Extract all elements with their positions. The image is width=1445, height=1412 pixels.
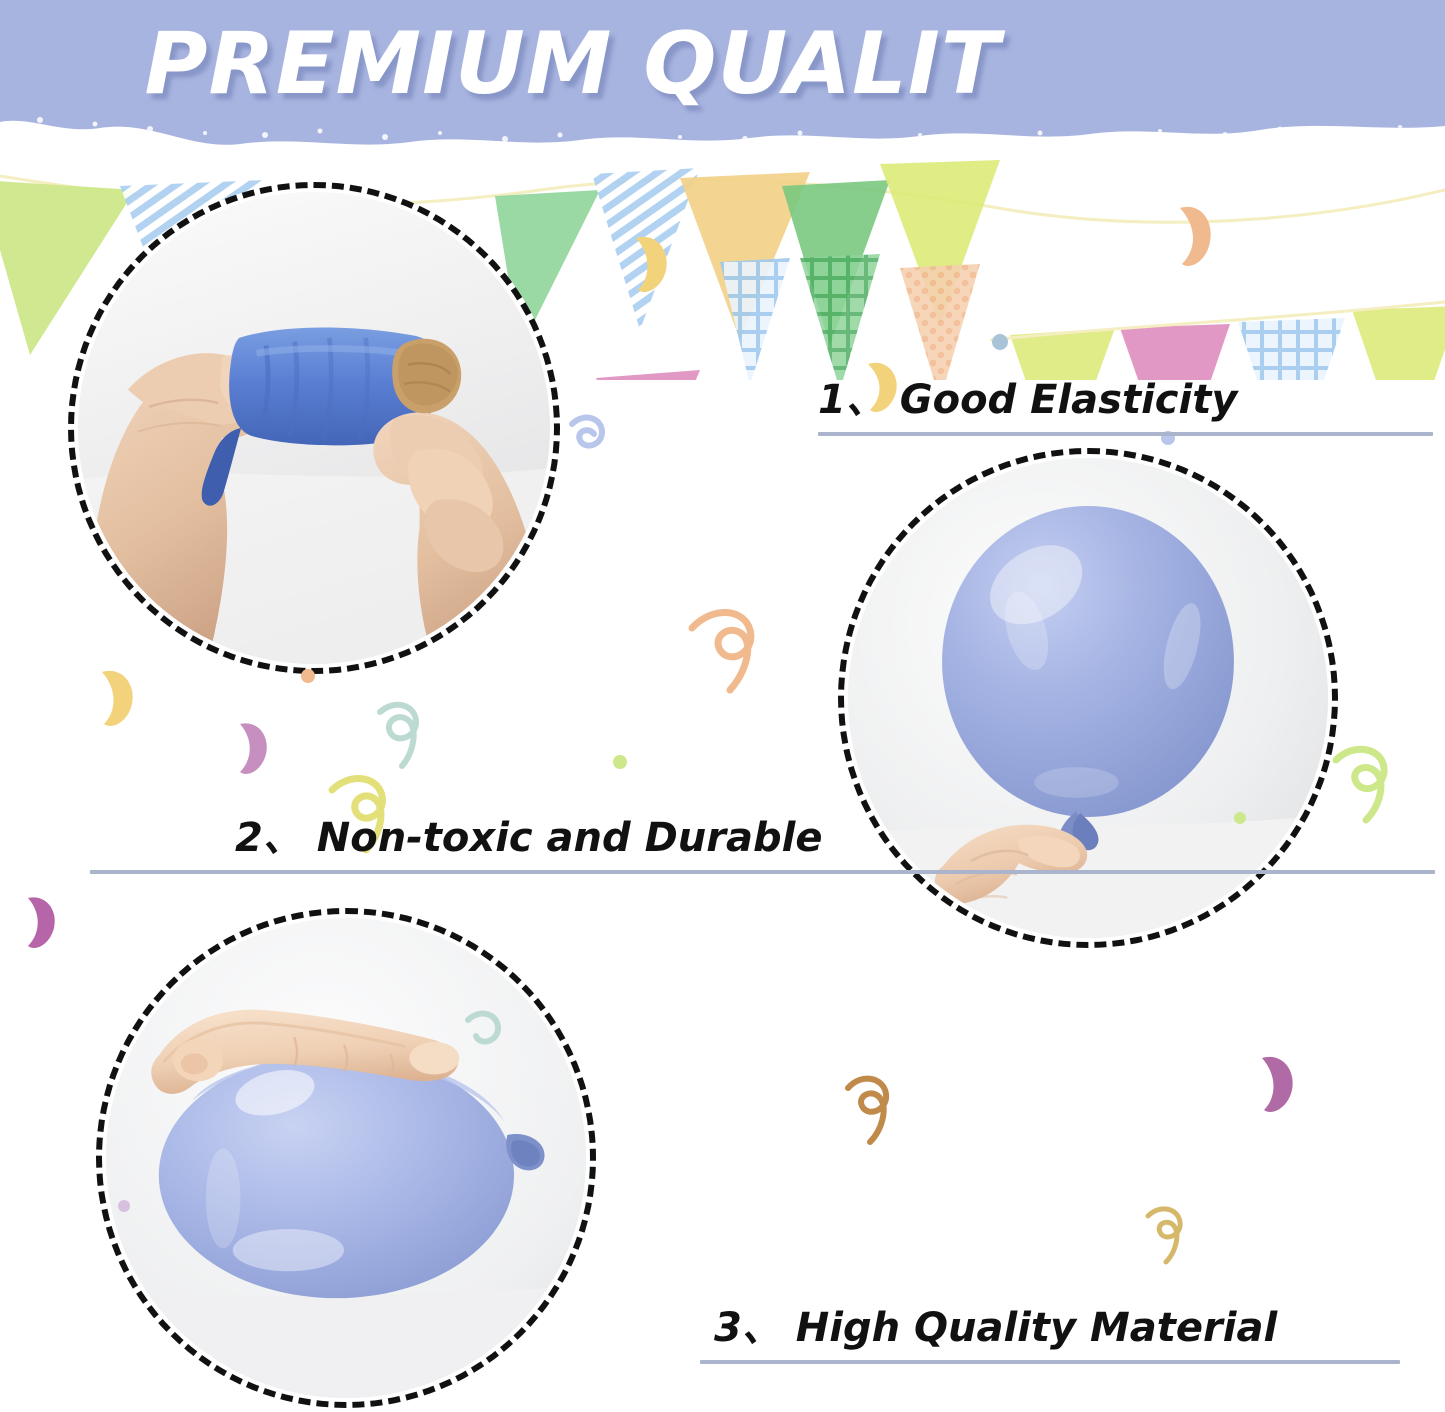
pressed-balloon-photo: [96, 908, 596, 1408]
feature-3-rule: [700, 1360, 1400, 1364]
feature-3: 3、 High Quality Material: [700, 1306, 1400, 1364]
feature-2-rule: [90, 870, 1435, 874]
confetti-crescent-yellow: [102, 671, 133, 726]
page-title: PREMIUM QUALIT: [0, 14, 1445, 114]
confetti-dot-green: [613, 755, 627, 769]
stretching-balloon-photo: [68, 182, 560, 674]
header-banner: PREMIUM QUALIT: [0, 0, 1445, 160]
feature-1-label: 1、 Good Elasticity: [818, 378, 1433, 422]
pennant-yellowgreen-3: [1352, 306, 1445, 380]
pennant-pink: [596, 370, 700, 380]
confetti-crescent-purple-3: [1262, 1057, 1293, 1112]
feature-2: 2、 Non-toxic and Durable: [90, 816, 1435, 874]
feature-1: 1、 Good Elasticity: [818, 378, 1433, 436]
product-infographic: PREMIUM QUALIT: [0, 0, 1445, 1412]
confetti-curl-gold: [1148, 1209, 1180, 1262]
photo-inner-1: [78, 192, 550, 664]
confetti-curl-blue: [572, 418, 602, 446]
pennant-peach-dots: [900, 264, 980, 380]
pennant-pink-2: [1120, 324, 1230, 380]
pennant-blue-grid: [720, 258, 790, 380]
pennant-blue-grid-3: [1238, 318, 1345, 380]
stretching-balloon-illustration: [78, 192, 550, 664]
confetti-curl-mint: [380, 705, 416, 766]
feature-2-label: 2、 Non-toxic and Durable: [90, 816, 1435, 860]
feature-3-label: 3、 High Quality Material: [700, 1306, 1400, 1350]
confetti-crescent-purple-2: [28, 897, 55, 948]
pressed-balloon-illustration: [106, 918, 586, 1398]
photo-inner-3: [106, 918, 586, 1398]
confetti-curl-peach: [692, 612, 751, 690]
pennant-green-grid-2: [800, 254, 880, 380]
confetti-curl-green: [1336, 749, 1384, 820]
confetti-crescent-purple: [240, 723, 267, 774]
feature-1-rule: [818, 432, 1433, 436]
pennant-blue-stripe-2: [592, 168, 700, 330]
confetti-curl-orange: [848, 1079, 886, 1142]
